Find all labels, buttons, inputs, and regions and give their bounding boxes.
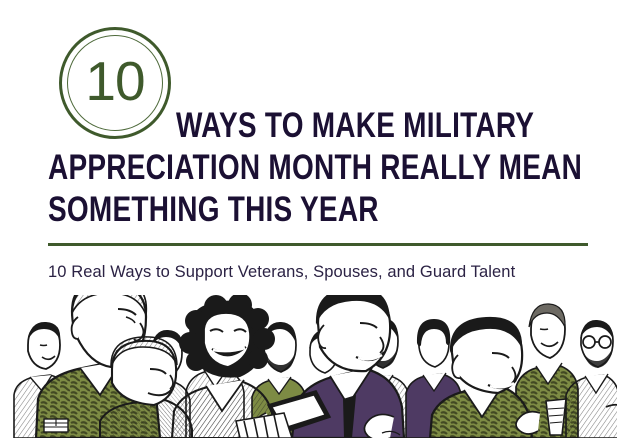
page-title: WAYS TO MAKE MILITARY APPRECIATION MONTH… xyxy=(48,105,608,231)
page-subtitle: 10 Real Ways to Support Veterans, Spouse… xyxy=(48,263,608,282)
title-badge-spacer xyxy=(48,105,176,145)
document-page: 10 WAYS TO MAKE MILITARY APPRECIATION MO… xyxy=(0,0,643,438)
header-divider xyxy=(48,243,588,246)
crowd-illustration xyxy=(0,295,617,438)
header-block: 10 WAYS TO MAKE MILITARY APPRECIATION MO… xyxy=(0,0,643,232)
